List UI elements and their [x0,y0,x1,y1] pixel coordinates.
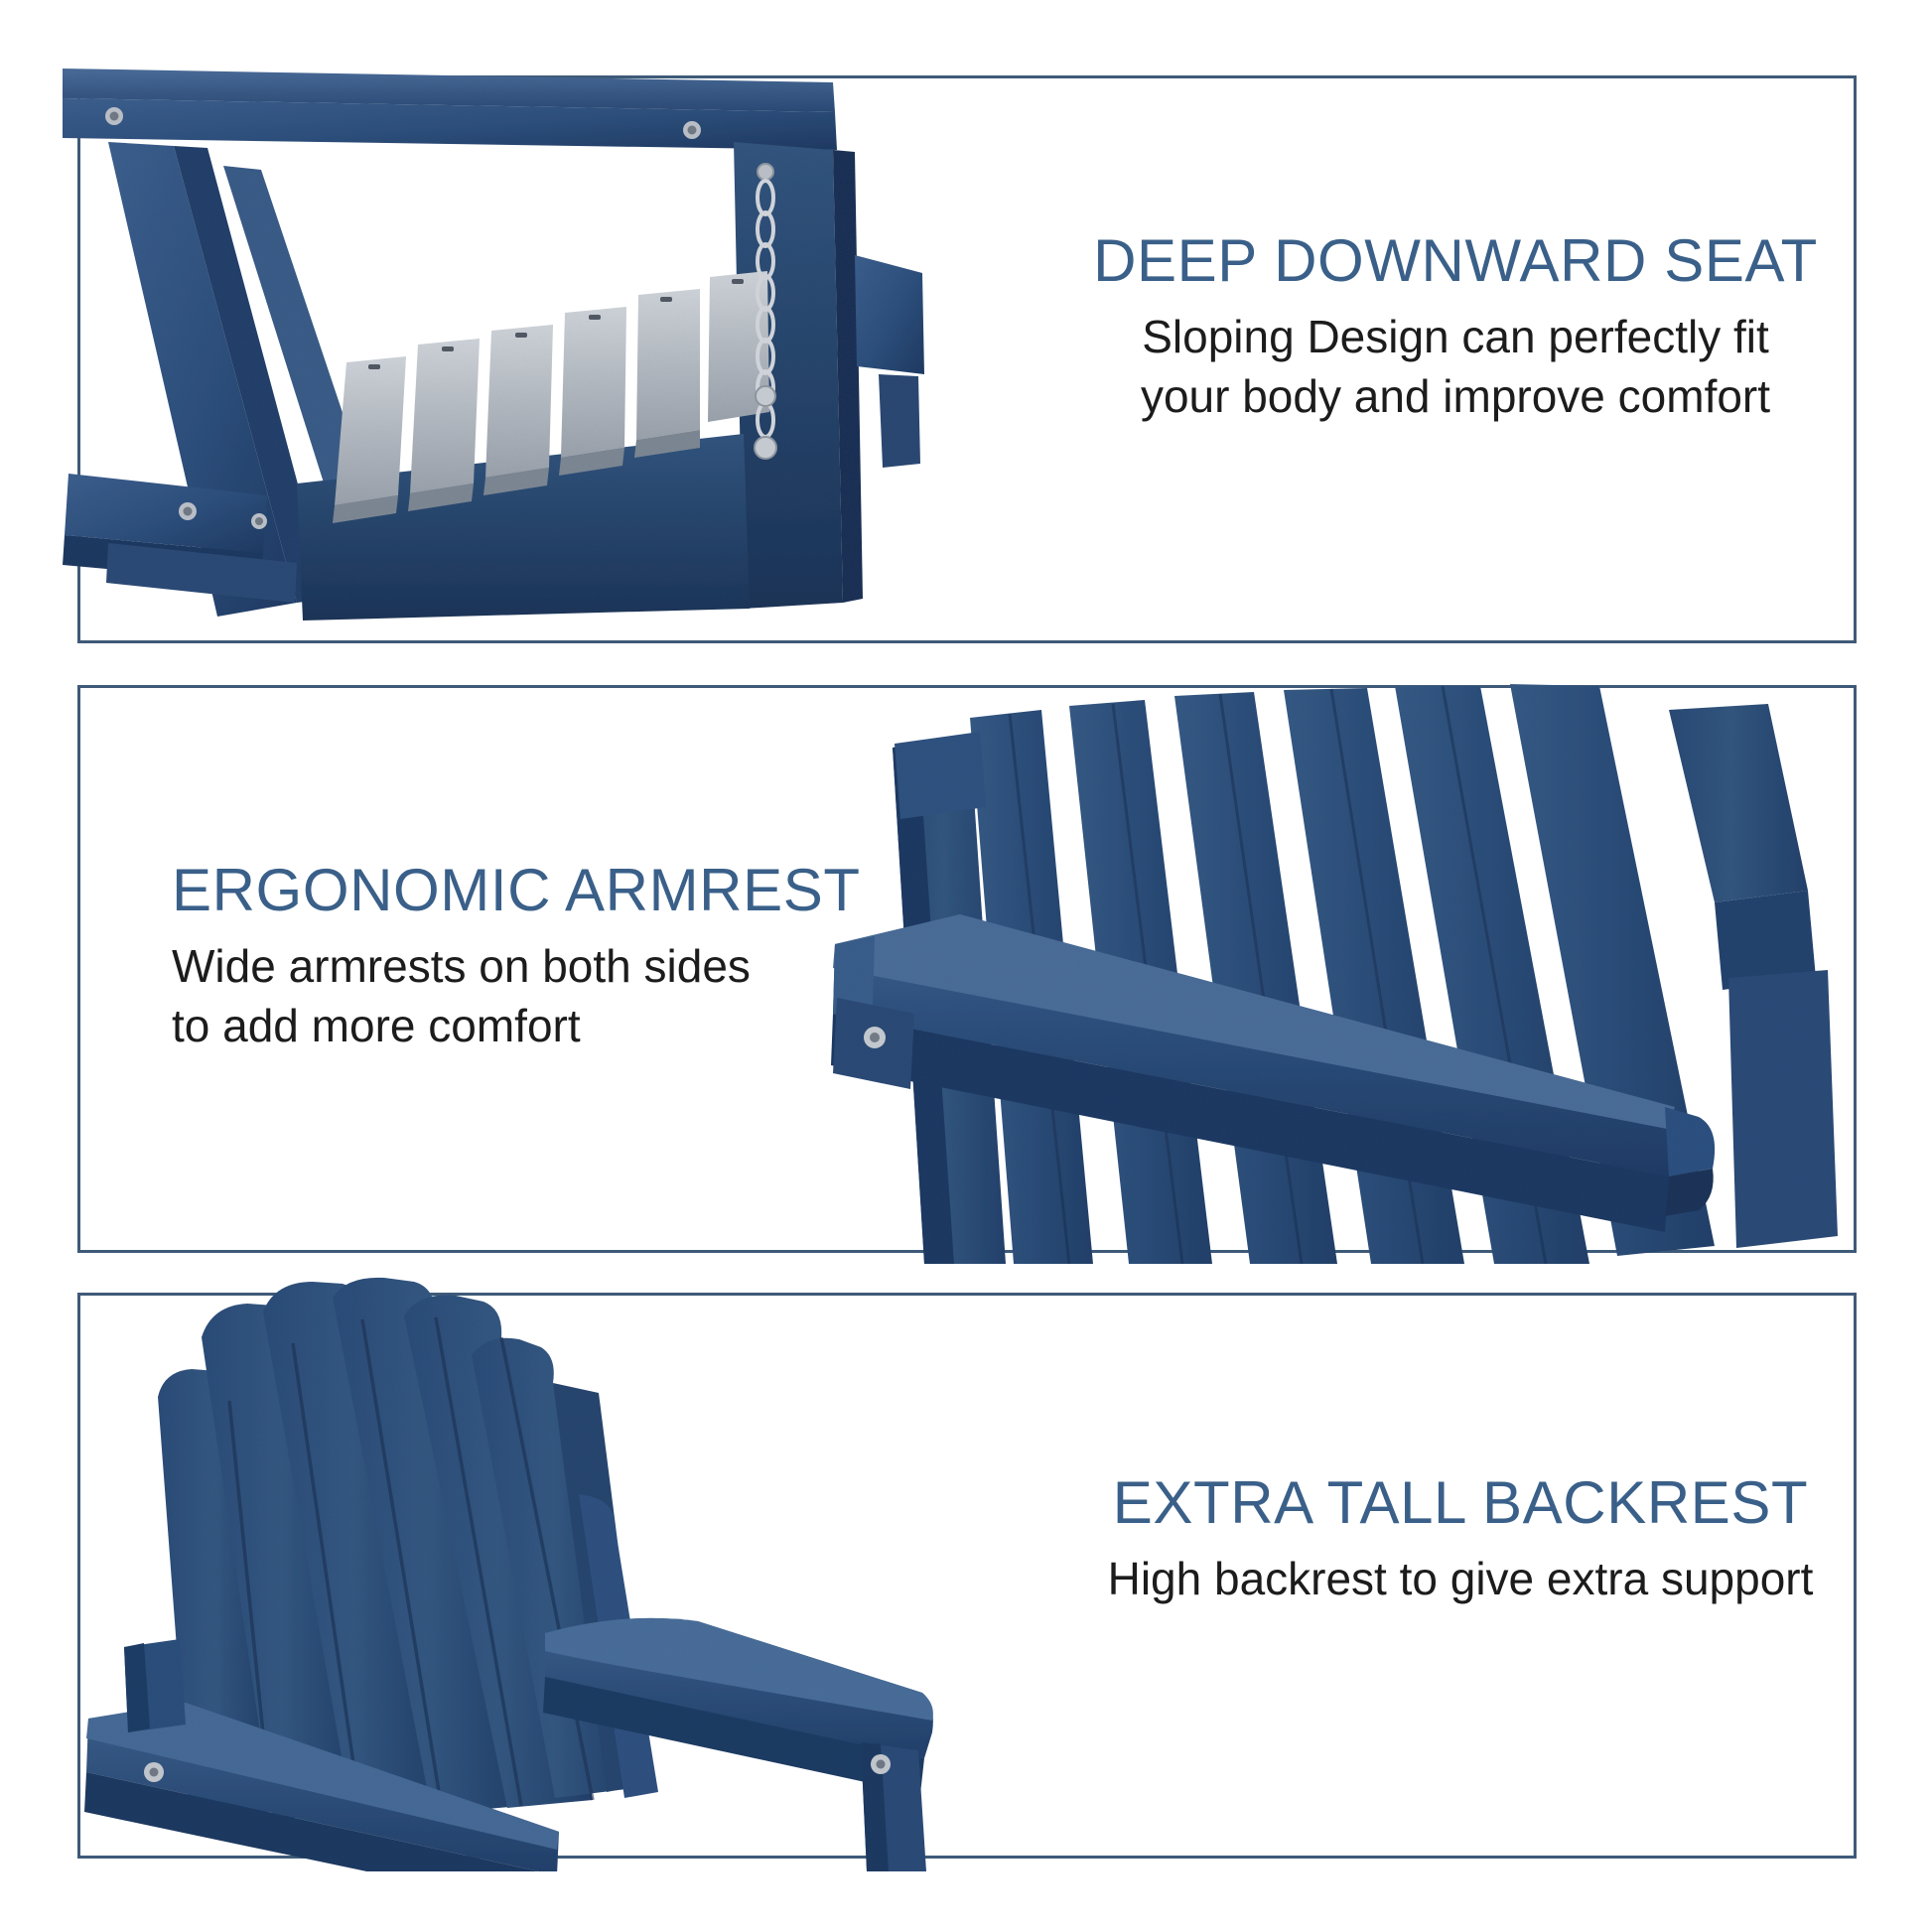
backrest-photo [63,1276,936,1871]
armrest-photo [775,680,1867,1264]
chair-screws [144,1754,891,1782]
screw-hardware [105,107,701,529]
backrest-body-line-1: High backrest to give extra support [1083,1550,1838,1609]
armrest-screw [864,1027,886,1048]
deep-seat-body-line-2: your body and improve comfort [1073,367,1838,427]
armrest-body-line-2: to add more comfort [172,997,867,1056]
feature-panel-armrest: ERGONOMIC ARMREST Wide armrests on both … [77,685,1857,1253]
deep-seat-photo [49,47,942,658]
armrest-heading: ERGONOMIC ARMREST [172,857,867,923]
feature-panel-deep-seat: DEEP DOWNWARD SEAT Sloping Design can pe… [77,75,1857,643]
feature-infographic: DEEP DOWNWARD SEAT Sloping Design can pe… [0,0,1932,1932]
deep-seat-heading: DEEP DOWNWARD SEAT [1073,227,1838,294]
deep-seat-text-block: DEEP DOWNWARD SEAT Sloping Design can pe… [1073,227,1838,427]
armrest-text-block: ERGONOMIC ARMREST Wide armrests on both … [172,857,867,1056]
armrest-body-line-1: Wide armrests on both sides [172,937,867,997]
deep-seat-body-line-1: Sloping Design can perfectly fit [1073,308,1838,367]
folding-chain [755,164,776,459]
backrest-heading: EXTRA TALL BACKREST [1083,1469,1838,1536]
backrest-text-block: EXTRA TALL BACKREST High backrest to giv… [1083,1469,1838,1609]
feature-panel-backrest: EXTRA TALL BACKREST High backrest to giv… [77,1293,1857,1859]
